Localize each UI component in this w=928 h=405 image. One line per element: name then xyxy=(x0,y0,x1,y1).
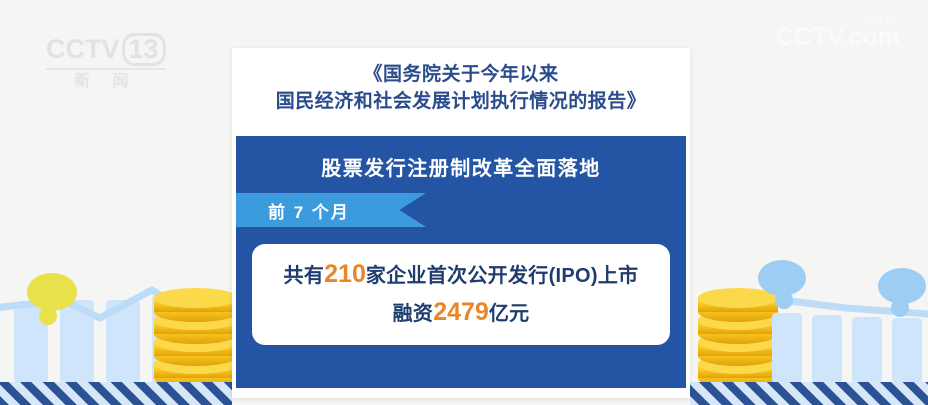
stat-line-1-prefix: 共有 xyxy=(284,265,325,287)
financing-amount: 2479 xyxy=(433,298,489,326)
ribbon-label: 前 7 个月 xyxy=(236,198,350,223)
left-coin-stack xyxy=(154,288,238,388)
right-balloon-marker-2 xyxy=(878,268,926,317)
info-card: 《国务院关于今年以来 国民经济和社会发展计划执行情况的报告》 股票发行注册制改革… xyxy=(232,48,690,398)
cctv-logo-text: CCTV xyxy=(46,34,120,64)
left-trend-line xyxy=(0,290,222,322)
right-coin-stack xyxy=(698,288,778,388)
ipo-company-count: 210 xyxy=(324,260,366,288)
cctv-dotcom-watermark: 央视网 CCTV.com xyxy=(776,36,900,50)
stat-line-1-suffix: 家企业首次公开发行(IPO)上市 xyxy=(366,265,639,287)
left-bar-chart xyxy=(14,295,220,383)
period-ribbon: 前 7 个月 xyxy=(236,193,426,227)
stat-line-2-prefix: 融资 xyxy=(393,303,434,325)
panel-heading: 股票发行注册制改革全面落地 xyxy=(236,136,686,181)
cctv-channel-subtitle: 新 闻 xyxy=(46,73,166,91)
left-stripe-band xyxy=(0,382,232,405)
right-bar-chart xyxy=(772,313,922,383)
watermark-divider xyxy=(46,68,166,70)
ribbon-shape: 前 7 个月 xyxy=(236,193,426,227)
card-title-line-2: 国民经济和社会发展计划执行情况的报告》 xyxy=(248,89,674,116)
stat-line-2: 融资2479亿元 xyxy=(262,294,660,332)
blue-panel: 股票发行注册制改革全面落地 前 7 个月 共有210家企业首次公开发行(IPO)… xyxy=(236,136,686,388)
cctv-dotcom-text: CCTV.com xyxy=(776,25,900,50)
right-trend-line xyxy=(782,300,928,314)
statistics-box: 共有210家企业首次公开发行(IPO)上市 融资2479亿元 xyxy=(252,244,670,345)
stat-line-1: 共有210家企业首次公开发行(IPO)上市 xyxy=(262,256,660,294)
cctv13-watermark: CCTV13 新 闻 xyxy=(46,33,166,91)
card-title-line-1: 《国务院关于今年以来 xyxy=(248,62,674,89)
stat-line-2-suffix: 亿元 xyxy=(489,303,530,325)
card-title: 《国务院关于今年以来 国民经济和社会发展计划执行情况的报告》 xyxy=(232,48,690,126)
left-balloon-marker xyxy=(27,273,77,325)
right-stripe-band xyxy=(690,382,928,405)
channel-number-badge: 13 xyxy=(122,33,166,66)
right-balloon-marker-1 xyxy=(758,260,806,309)
